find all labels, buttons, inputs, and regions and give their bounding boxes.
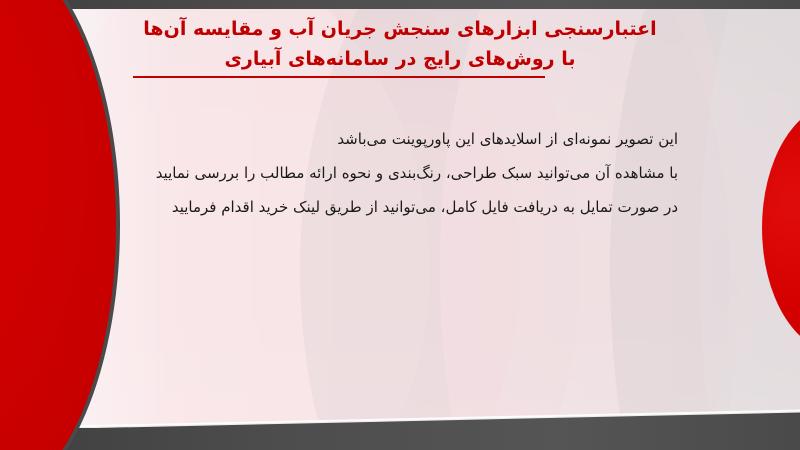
title-underline-rule [133, 76, 545, 78]
slide-body-text: این تصویر نمونه‌ای از اسلایدهای این پاور… [118, 122, 678, 224]
slide-title: اعتبارسنجی ابزارهای سنجش جریان آب و مقای… [0, 14, 800, 74]
body-line: با مشاهده آن می‌توانید سبک طراحی، رنگ‌بن… [118, 156, 678, 190]
slide-title-line-2: با روش‌های رایج در سامانه‌های آبیاری [0, 44, 800, 74]
body-line: در صورت تمایل به دریافت فایل کامل، می‌تو… [118, 190, 678, 224]
body-line: این تصویر نمونه‌ای از اسلایدهای این پاور… [118, 122, 678, 156]
slide-title-line-1: اعتبارسنجی ابزارهای سنجش جریان آب و مقای… [0, 14, 800, 44]
presentation-slide: اعتبارسنجی ابزارهای سنجش جریان آب و مقای… [0, 0, 800, 450]
